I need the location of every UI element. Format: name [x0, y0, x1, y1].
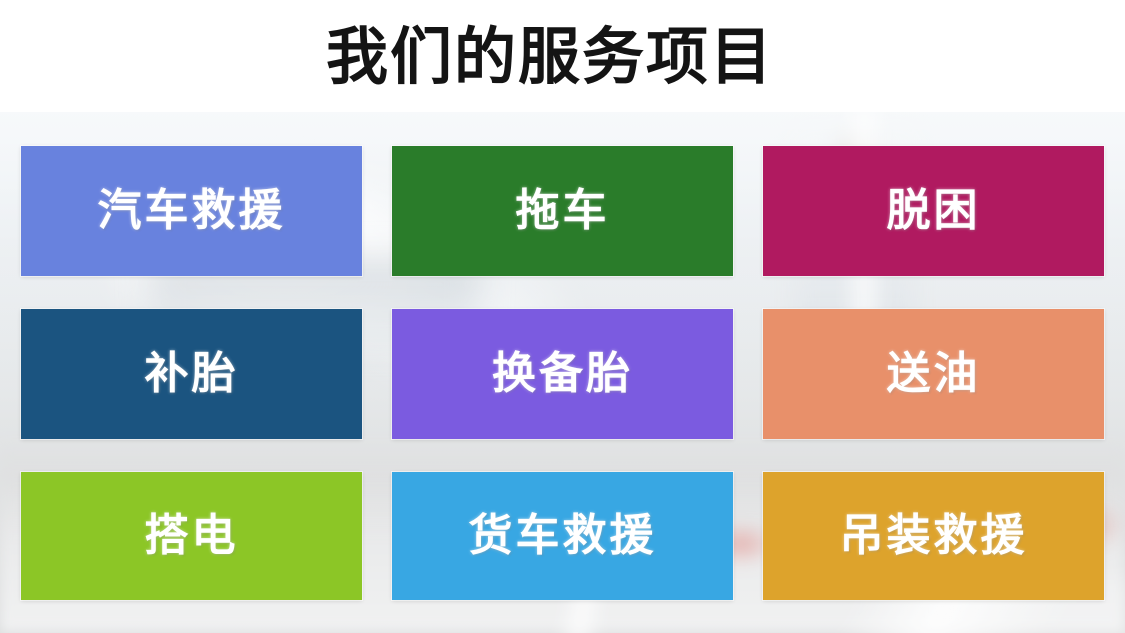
service-tile-label: 搭电: [145, 514, 239, 558]
page-title: 我们的服务项目: [0, 20, 1100, 94]
service-tile-crane-rescue[interactable]: 吊装救援: [763, 472, 1104, 600]
service-tile-roadside-assistance[interactable]: 汽车救援: [21, 146, 362, 276]
service-tile-label: 汽车救援: [98, 189, 286, 233]
service-tile-label: 脱困: [887, 189, 981, 233]
service-tile-label: 货车救援: [469, 514, 657, 558]
service-tile-label: 吊装救援: [840, 514, 1028, 558]
service-tile-label: 补胎: [145, 352, 239, 396]
service-tile-label: 拖车: [516, 189, 610, 233]
service-menu-screen: 我们的服务项目 汽车救援 拖车 脱困 补胎 换备胎 送油 搭电 货车救援 吊装救…: [0, 0, 1125, 633]
service-tile-spare-tire-change[interactable]: 换备胎: [392, 309, 733, 439]
service-tile-tire-repair[interactable]: 补胎: [21, 309, 362, 439]
service-tile-label: 送油: [887, 352, 981, 396]
service-tile-truck-rescue[interactable]: 货车救援: [392, 472, 733, 600]
header-bar: 我们的服务项目: [0, 0, 1125, 112]
service-tile-jump-start[interactable]: 搭电: [21, 472, 362, 600]
service-tile-towing[interactable]: 拖车: [392, 146, 733, 276]
service-tile-extrication[interactable]: 脱困: [763, 146, 1104, 276]
service-tile-grid: 汽车救援 拖车 脱困 补胎 换备胎 送油 搭电 货车救援 吊装救援: [21, 146, 1104, 600]
service-tile-label: 换备胎: [492, 352, 633, 396]
service-tile-fuel-delivery[interactable]: 送油: [763, 309, 1104, 439]
